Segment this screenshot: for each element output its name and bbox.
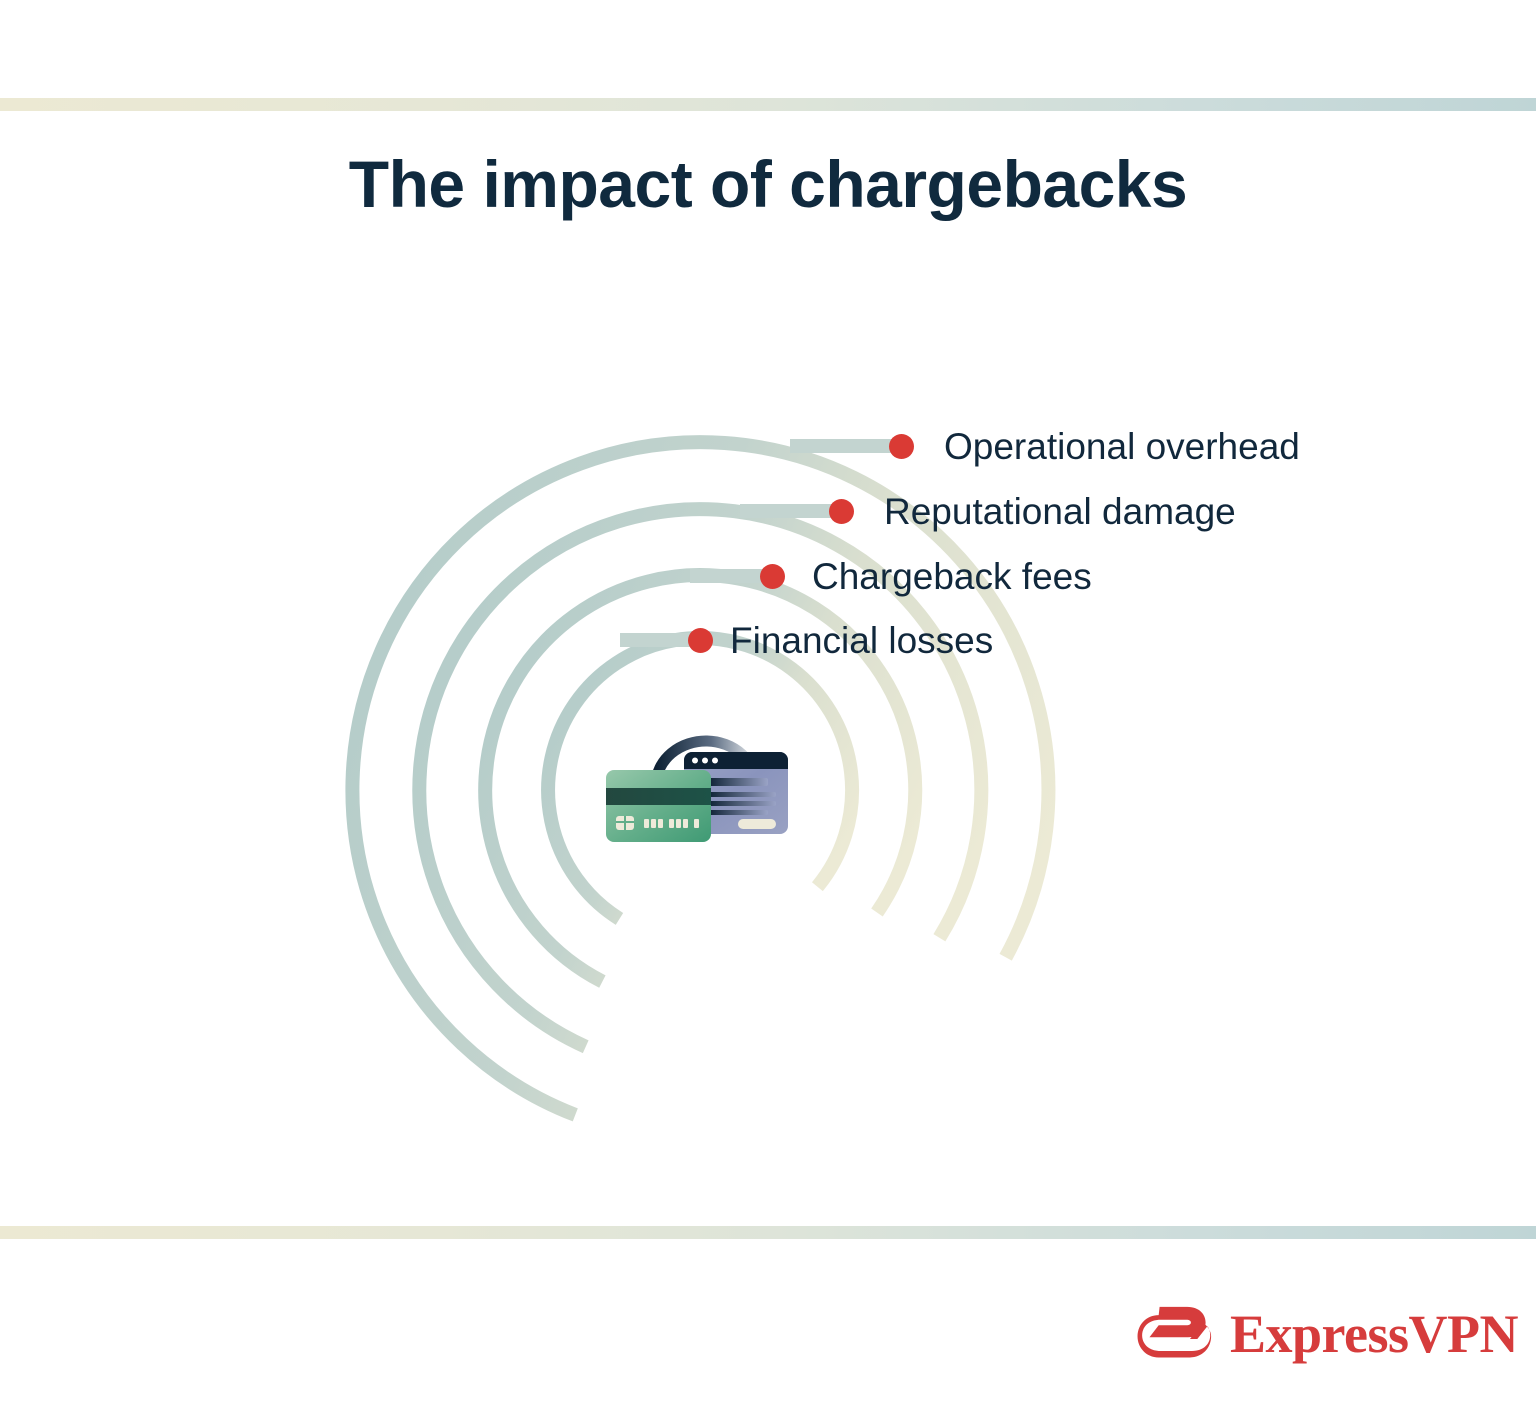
top-divider-rule — [0, 98, 1536, 111]
expressvpn-wordmark: ExpressVPN — [1230, 1307, 1518, 1361]
page-title: The impact of chargebacks — [0, 148, 1536, 221]
callout-dot-chargeback-fees — [760, 564, 785, 589]
expressvpn-logo[interactable]: ExpressVPN — [1130, 1300, 1518, 1368]
callout-label-chargeback-fees: Chargeback fees — [812, 558, 1092, 595]
callout-label-reputational-damage: Reputational damage — [884, 493, 1236, 530]
callout-label-financial-losses: Financial losses — [730, 622, 993, 659]
infographic-canvas: The impact of chargebacks — [0, 0, 1536, 1411]
chargeback-card-icon — [596, 712, 796, 852]
callout-dot-operational-overhead — [889, 434, 914, 459]
callout-label-operational-overhead: Operational overhead — [944, 428, 1300, 465]
expressvpn-e-mark — [1130, 1300, 1214, 1368]
bottom-divider-rule — [0, 1226, 1536, 1239]
callout-dot-reputational-damage — [829, 499, 854, 524]
callout-dot-financial-losses — [688, 628, 713, 653]
